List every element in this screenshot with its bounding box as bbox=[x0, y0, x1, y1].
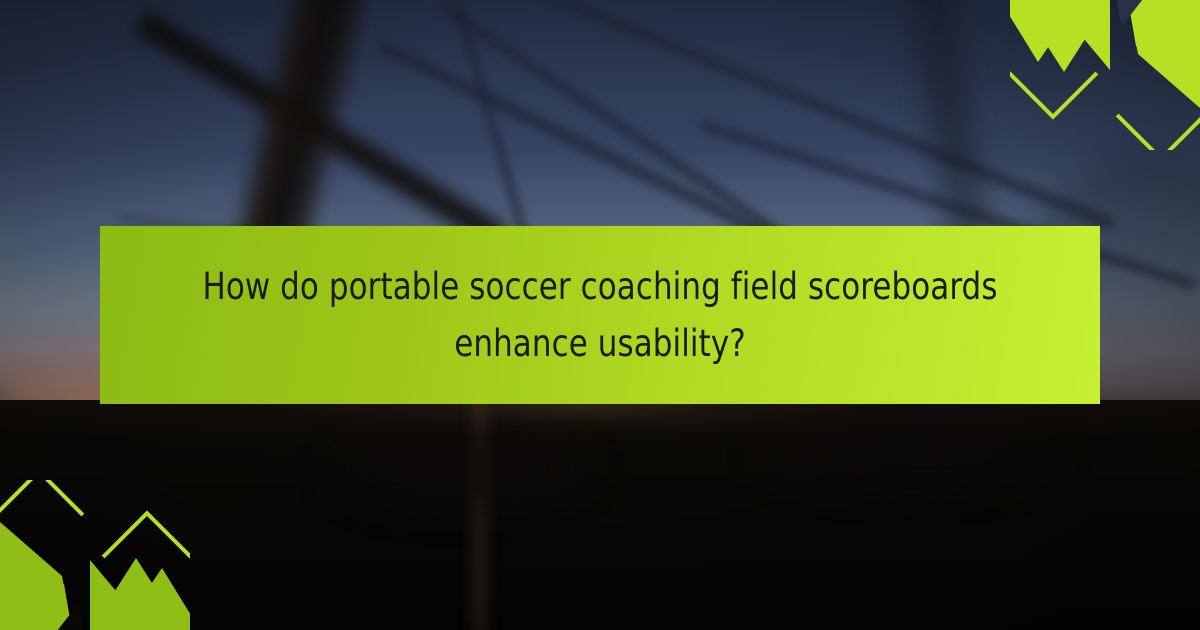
decoration-bottom-left bbox=[0, 480, 190, 630]
card-title: How do portable soccer coaching field sc… bbox=[191, 258, 1009, 373]
chevron-cluster-top-right-icon bbox=[1010, 0, 1200, 150]
share-card: How do portable soccer coaching field sc… bbox=[0, 0, 1200, 630]
chevron-cluster-bottom-left-icon bbox=[0, 480, 190, 630]
decoration-top-right bbox=[1010, 0, 1200, 150]
title-banner: How do portable soccer coaching field sc… bbox=[100, 226, 1100, 404]
